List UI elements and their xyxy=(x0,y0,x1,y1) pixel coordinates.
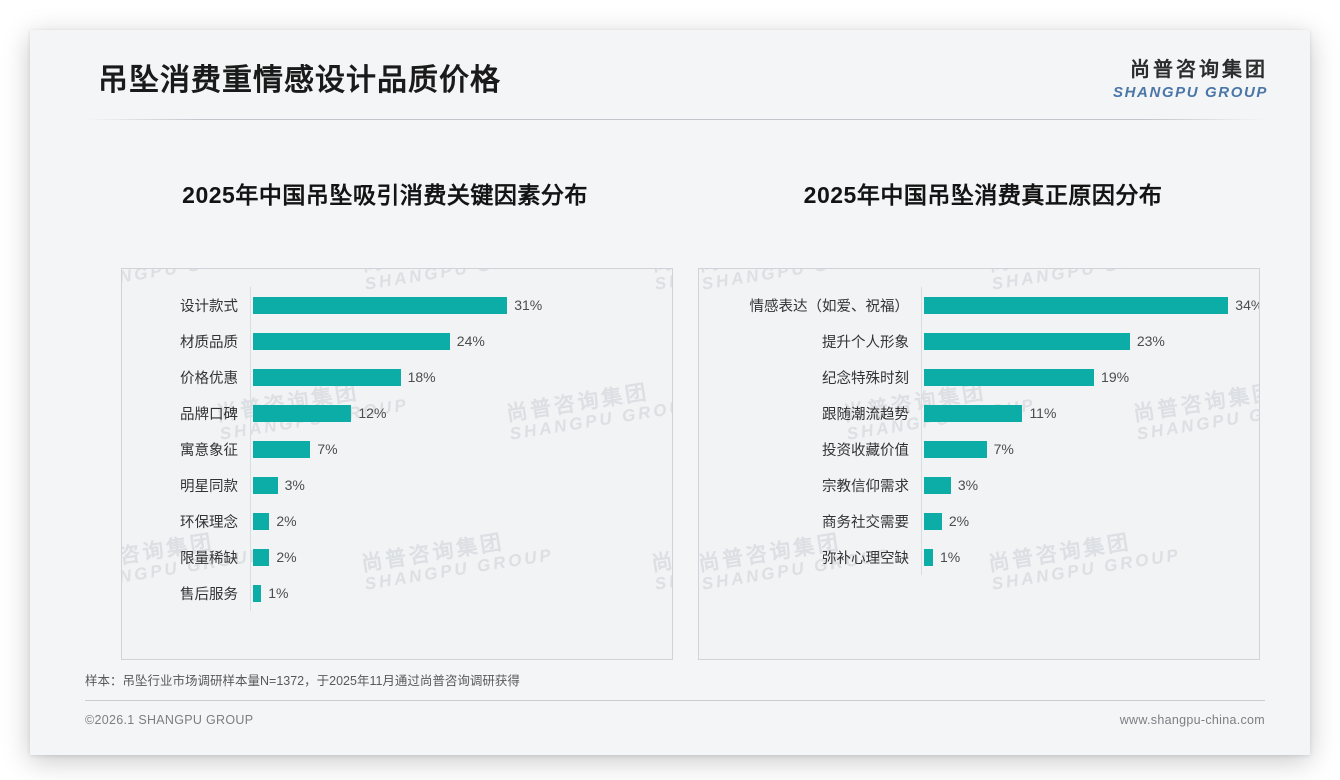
bar-row: 弥补心理空缺1% xyxy=(699,539,1259,575)
bar-category-label: 跟随潮流趋势 xyxy=(699,403,921,424)
bar-track: 34% xyxy=(921,287,1260,323)
bar[interactable] xyxy=(253,405,351,422)
bar-value-label: 34% xyxy=(1235,297,1260,313)
sample-note: 样本：吊坠行业市场调研样本量N=1372，于2025年11月通过尚普咨询调研获得 xyxy=(85,670,1265,701)
bar[interactable] xyxy=(253,477,278,494)
bar-value-label: 18% xyxy=(408,369,436,385)
bar-category-label: 限量稀缺 xyxy=(122,547,250,568)
bar-row: 材质品质24% xyxy=(122,323,672,359)
bar-category-label: 明星同款 xyxy=(122,475,250,496)
bar-row: 投资收藏价值7% xyxy=(699,431,1259,467)
bar[interactable] xyxy=(924,549,933,566)
bar-row: 明星同款3% xyxy=(122,467,672,503)
bar-track: 2% xyxy=(250,539,672,575)
bar-value-label: 24% xyxy=(457,333,485,349)
bar-track: 19% xyxy=(921,359,1259,395)
slide-footer: ©2026.1 SHANGPU GROUP www.shangpu-china.… xyxy=(85,713,1265,727)
bar-track: 3% xyxy=(921,467,1259,503)
chart-title-right: 2025年中国吊坠消费真正原因分布 xyxy=(698,176,1268,210)
bar-track: 1% xyxy=(921,539,1259,575)
bar-track: 11% xyxy=(921,395,1259,431)
bar-row: 纪念特殊时刻19% xyxy=(699,359,1259,395)
bar-rows-left: 设计款式31%材质品质24%价格优惠18%品牌口碑12%寓意象征7%明星同款3%… xyxy=(122,269,672,611)
page-title: 吊坠消费重情感设计品质价格 xyxy=(98,55,501,99)
bar[interactable] xyxy=(924,477,951,494)
bar-row: 寓意象征7% xyxy=(122,431,672,467)
bar-value-label: 2% xyxy=(949,513,969,529)
bar-row: 售后服务1% xyxy=(122,575,672,611)
bar[interactable] xyxy=(253,333,450,350)
bar-track: 23% xyxy=(921,323,1259,359)
bar[interactable] xyxy=(924,333,1130,350)
bar-row: 提升个人形象23% xyxy=(699,323,1259,359)
bar-category-label: 寓意象征 xyxy=(122,439,250,460)
chart-panel-left: 尚普咨询集团SHANGPU GROUP尚普咨询集团SHANGPU GROUP尚普… xyxy=(121,268,673,660)
bar[interactable] xyxy=(924,513,942,530)
bar-value-label: 3% xyxy=(285,477,305,493)
bar-value-label: 7% xyxy=(994,441,1014,457)
bar-value-label: 1% xyxy=(268,585,288,601)
bar-track: 1% xyxy=(250,575,672,611)
bar-category-label: 环保理念 xyxy=(122,511,250,532)
bar-track: 24% xyxy=(250,323,672,359)
bar-value-label: 2% xyxy=(276,549,296,565)
bar-value-label: 1% xyxy=(940,549,960,565)
bar-value-label: 7% xyxy=(317,441,337,457)
bar[interactable] xyxy=(253,297,507,314)
bar-category-label: 售后服务 xyxy=(122,583,250,604)
bar-row: 宗教信仰需求3% xyxy=(699,467,1259,503)
bar-value-label: 3% xyxy=(958,477,978,493)
bar[interactable] xyxy=(253,549,269,566)
footer-website[interactable]: www.shangpu-china.com xyxy=(1120,713,1265,727)
bar[interactable] xyxy=(924,405,1022,422)
bar-value-label: 11% xyxy=(1029,405,1056,421)
bar-category-label: 弥补心理空缺 xyxy=(699,547,921,568)
bar-track: 18% xyxy=(250,359,672,395)
bar-row: 商务社交需要2% xyxy=(699,503,1259,539)
bar[interactable] xyxy=(253,441,310,458)
bar-category-label: 价格优惠 xyxy=(122,367,250,388)
logo-chinese-text: 尚普咨询集团 xyxy=(1113,60,1268,80)
bar-track: 7% xyxy=(250,431,672,467)
bar-row: 情感表达（如爱、祝福）34% xyxy=(699,287,1259,323)
chart-block-right: 2025年中国吊坠消费真正原因分布 尚普咨询集团SHANGPU GROUP尚普咨… xyxy=(698,150,1268,210)
bar-value-label: 2% xyxy=(276,513,296,529)
bar-value-label: 31% xyxy=(514,297,542,313)
bar-value-label: 12% xyxy=(358,405,386,421)
chart-panel-right: 尚普咨询集团SHANGPU GROUP尚普咨询集团SHANGPU GROUP尚普… xyxy=(698,268,1260,660)
bar-category-label: 材质品质 xyxy=(122,331,250,352)
bar[interactable] xyxy=(924,369,1094,386)
bar-category-label: 设计款式 xyxy=(122,295,250,316)
header-divider xyxy=(85,119,1265,120)
bar-track: 31% xyxy=(250,287,672,323)
bar-rows-right: 情感表达（如爱、祝福）34%提升个人形象23%纪念特殊时刻19%跟随潮流趋势11… xyxy=(699,269,1259,575)
company-logo: 尚普咨询集团 SHANGPU GROUP xyxy=(1113,60,1268,100)
bar[interactable] xyxy=(253,369,401,386)
bar-category-label: 纪念特殊时刻 xyxy=(699,367,921,388)
bar-category-label: 宗教信仰需求 xyxy=(699,475,921,496)
bar-track: 3% xyxy=(250,467,672,503)
bar-category-label: 商务社交需要 xyxy=(699,511,921,532)
slide: 吊坠消费重情感设计品质价格 尚普咨询集团 SHANGPU GROUP 2025年… xyxy=(30,30,1310,755)
bar-track: 2% xyxy=(921,503,1259,539)
bar-value-label: 19% xyxy=(1101,369,1129,385)
bar-row: 限量稀缺2% xyxy=(122,539,672,575)
bar-category-label: 品牌口碑 xyxy=(122,403,250,424)
note-divider xyxy=(85,700,1265,701)
sample-note-text: 样本：吊坠行业市场调研样本量N=1372，于2025年11月通过尚普咨询调研获得 xyxy=(85,670,1265,700)
bar-row: 设计款式31% xyxy=(122,287,672,323)
bar-row: 跟随潮流趋势11% xyxy=(699,395,1259,431)
chart-title-left: 2025年中国吊坠吸引消费关键因素分布 xyxy=(90,176,680,210)
bar-row: 环保理念2% xyxy=(122,503,672,539)
bar[interactable] xyxy=(924,441,987,458)
bar[interactable] xyxy=(253,585,261,602)
bar-row: 品牌口碑12% xyxy=(122,395,672,431)
bar[interactable] xyxy=(924,297,1228,314)
bar-track: 7% xyxy=(921,431,1259,467)
chart-block-left: 2025年中国吊坠吸引消费关键因素分布 尚普咨询集团SHANGPU GROUP尚… xyxy=(90,150,680,210)
footer-copyright: ©2026.1 SHANGPU GROUP xyxy=(85,713,253,727)
bar[interactable] xyxy=(253,513,269,530)
bar-category-label: 情感表达（如爱、祝福） xyxy=(699,295,921,316)
logo-english-text: SHANGPU GROUP xyxy=(1113,85,1268,100)
bar-value-label: 23% xyxy=(1137,333,1165,349)
bar-category-label: 投资收藏价值 xyxy=(699,439,921,460)
bar-track: 12% xyxy=(250,395,672,431)
bar-track: 2% xyxy=(250,503,672,539)
bar-category-label: 提升个人形象 xyxy=(699,331,921,352)
slide-header: 吊坠消费重情感设计品质价格 尚普咨询集团 SHANGPU GROUP xyxy=(30,30,1310,119)
bar-row: 价格优惠18% xyxy=(122,359,672,395)
